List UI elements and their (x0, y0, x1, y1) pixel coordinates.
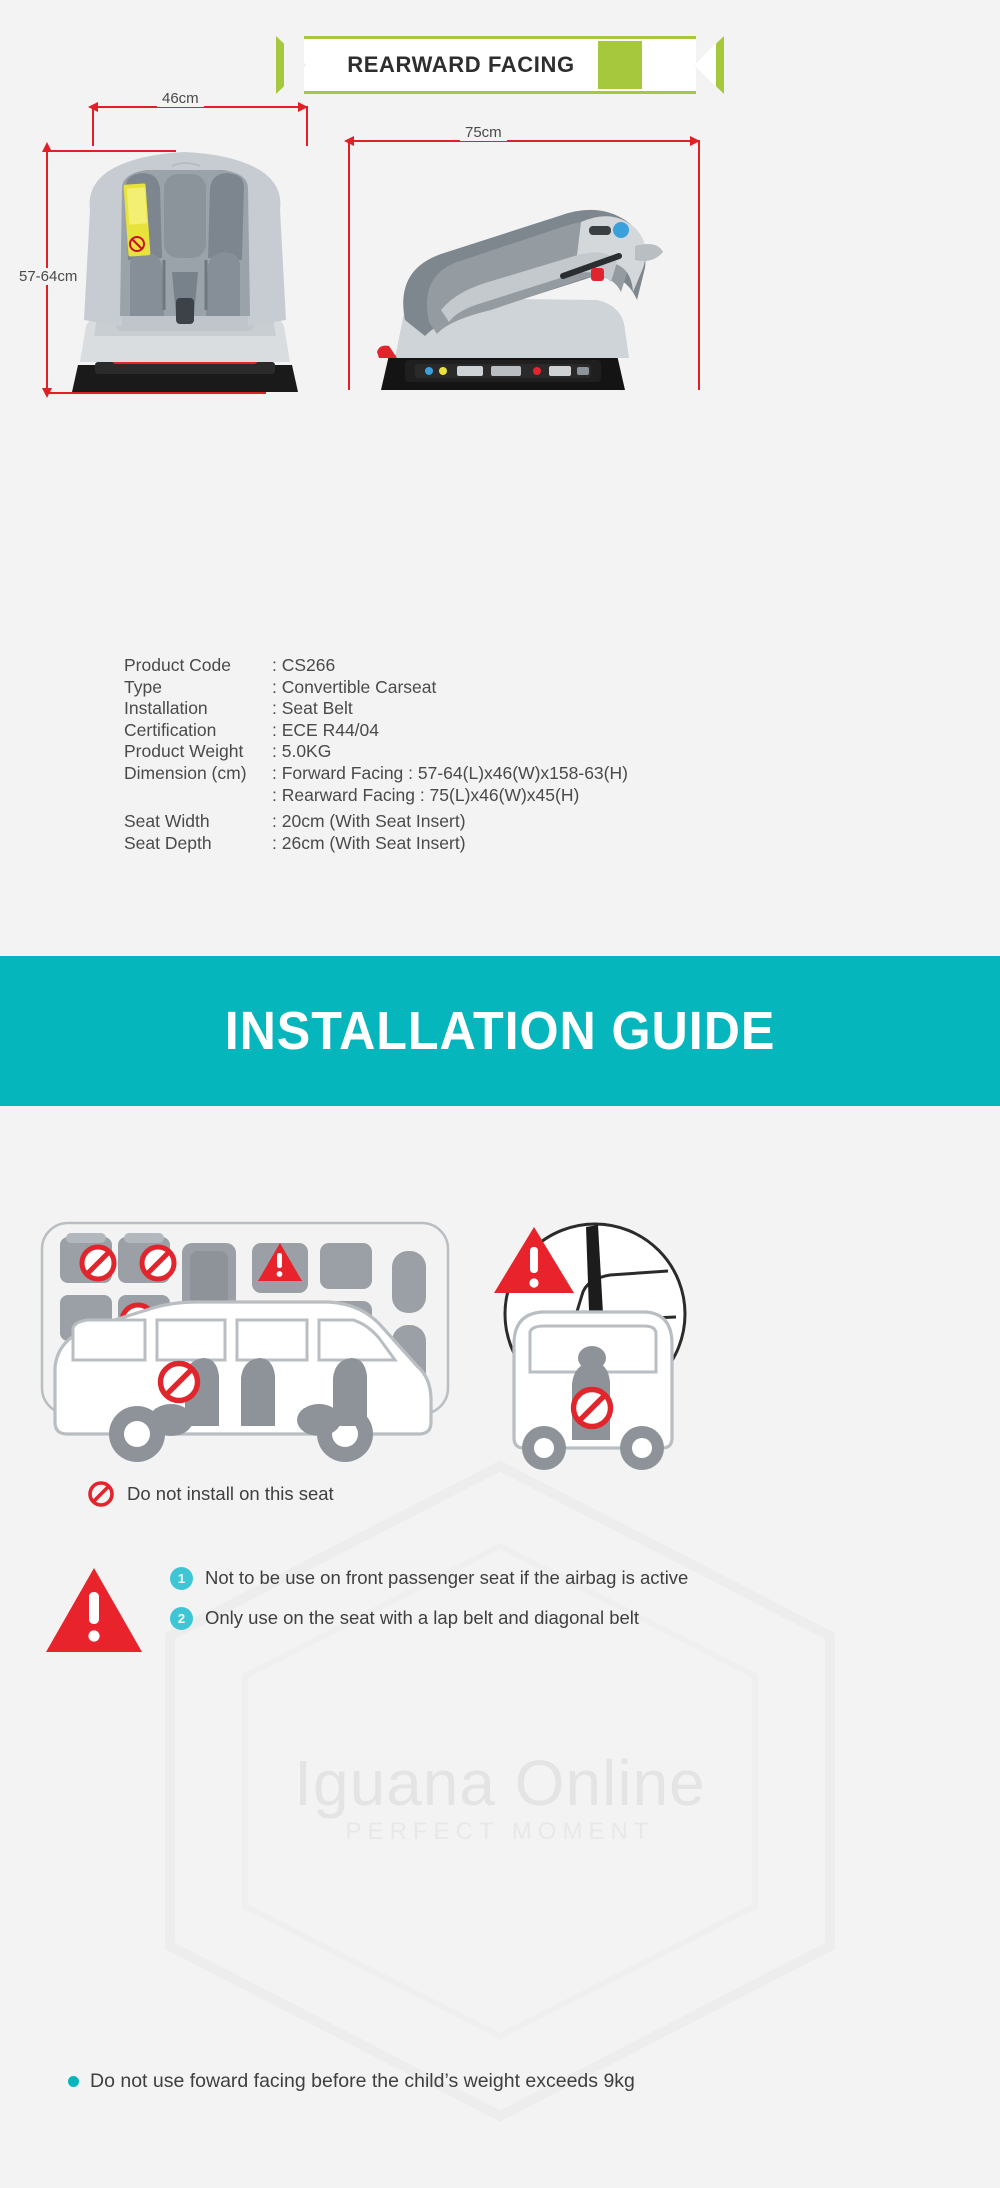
banner-left-notch (284, 43, 306, 87)
spec-key: Seat Depth (124, 833, 272, 855)
length-ruler-right-tick (698, 140, 700, 390)
spec-value: : Convertible Carseat (272, 677, 436, 699)
carseat-side-view-image (345, 150, 670, 410)
spec-key: Product Code (124, 655, 272, 677)
height-ruler-top-tick (46, 150, 176, 152)
height-measure-label: 57-64cm (14, 268, 82, 285)
spec-key: Certification (124, 720, 272, 742)
spec-row: Dimension (cm) : Forward Facing : 57-64(… (124, 763, 628, 785)
spec-key (124, 785, 272, 807)
spec-row: : Rearward Facing : 75(L)x46(W)x45(H) (124, 785, 628, 807)
spec-value: : ECE R44/04 (272, 720, 379, 742)
spec-value: : CS266 (272, 655, 335, 677)
spec-value: : 26cm (With Seat Insert) (272, 833, 466, 855)
bullet-dot-icon (68, 2076, 79, 2087)
installation-guide-band: INSTALLATION GUIDE (0, 956, 1000, 1106)
installation-section: Iguana Online PERFECT MOMENT (0, 1106, 1000, 2188)
car-rear-view-diagram (500, 1298, 685, 1478)
spec-value: : Seat Belt (272, 698, 353, 720)
footer-note: Do not use foward facing before the chil… (68, 2070, 635, 2093)
spec-row: Certification : ECE R44/04 (124, 720, 628, 742)
spec-value: : Rearward Facing : 75(L)x46(W)x45(H) (272, 785, 579, 807)
spec-value: : Forward Facing : 57-64(L)x46(W)x158-63… (272, 763, 628, 785)
width-measure-label: 46cm (157, 90, 204, 107)
spec-row: Installation : Seat Belt (124, 698, 628, 720)
banner-title: REARWARD FACING (316, 36, 606, 94)
spec-value: : 5.0KG (272, 741, 331, 763)
spec-row: Seat Width : 20cm (With Seat Insert) (124, 811, 628, 833)
spec-row: Type : Convertible Carseat (124, 677, 628, 699)
length-measure-label: 75cm (460, 124, 507, 141)
spec-key: Product Weight (124, 741, 272, 763)
height-ruler-bottom-tick (46, 392, 266, 394)
product-section: REARWARD FACING (0, 0, 1000, 956)
length-ruler-line (348, 140, 700, 142)
infographic-page: REARWARD FACING (0, 0, 1000, 2188)
vehicle-outlines (0, 1106, 1000, 2188)
spec-row: Product Code : CS266 (124, 655, 628, 677)
width-ruler-right-tick (306, 106, 308, 146)
spec-key: Type (124, 677, 272, 699)
installation-guide-heading: INSTALLATION GUIDE (225, 1000, 776, 1062)
spec-key: Seat Width (124, 811, 272, 833)
carseat-front-view-image (60, 140, 310, 405)
width-ruler-left-tick (92, 106, 94, 146)
car-side-view-diagram (45, 1294, 440, 1479)
rearward-facing-banner: REARWARD FACING (276, 36, 724, 94)
spec-row: Seat Depth : 26cm (With Seat Insert) (124, 833, 628, 855)
footer-note-text: Do not use foward facing before the chil… (90, 2070, 635, 2093)
spec-list: Product Code : CS266 Type : Convertible … (124, 655, 628, 854)
spec-row: Product Weight : 5.0KG (124, 741, 628, 763)
spec-key: Dimension (cm) (124, 763, 272, 785)
spec-value: : 20cm (With Seat Insert) (272, 811, 466, 833)
banner-right-notch (694, 43, 716, 87)
length-ruler-left-tick (348, 140, 350, 390)
spec-key: Installation (124, 698, 272, 720)
